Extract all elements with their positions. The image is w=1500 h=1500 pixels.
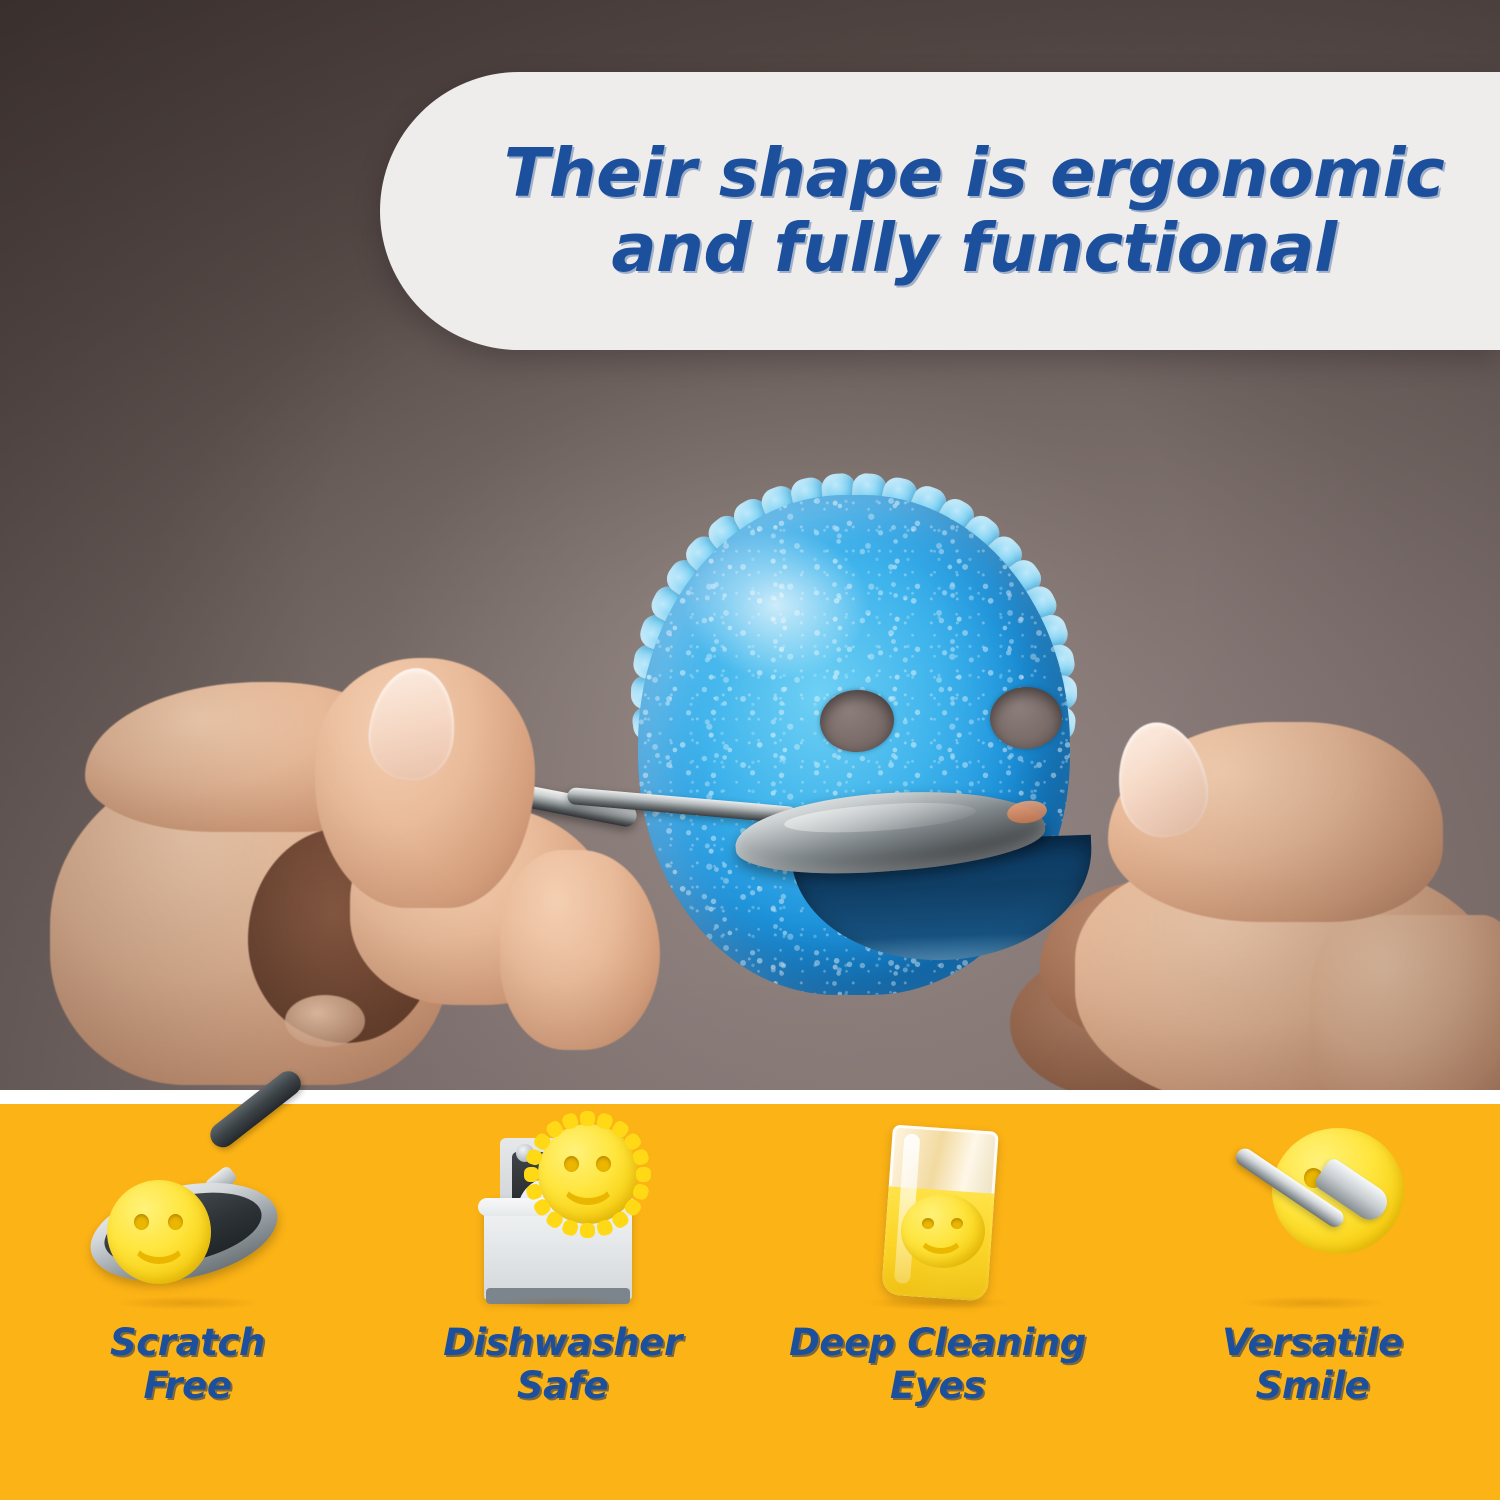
- mini-sponge-tooth: [1357, 1116, 1377, 1136]
- feature-dishwasher-safe: Dishwasher Safe: [375, 1104, 750, 1500]
- mini-sponge-teeth: [531, 1117, 645, 1231]
- mini-sponge-tooth: [1298, 1116, 1318, 1136]
- product-marketing-image: Their shape is ergonomicand fully functi…: [0, 0, 1500, 1500]
- mini-sponge-tooth: [1397, 1161, 1416, 1180]
- mini-sponge-tooth: [1259, 1202, 1278, 1221]
- mini-sponge-tooth: [101, 1187, 122, 1208]
- mini-sponge-tooth: [1388, 1220, 1409, 1241]
- mini-sponge-tooth: [1357, 1247, 1377, 1267]
- mini-sponge-tooth: [1339, 1111, 1356, 1128]
- fork-with-sponge-icon: [1188, 1122, 1438, 1312]
- mini-sponge-tooth: [1319, 1111, 1336, 1128]
- mini-sponge-tooth: [1339, 1254, 1356, 1271]
- mini-sponge-eye-right: [168, 1214, 183, 1230]
- headline-line-1: Their shape is ergonomic: [504, 134, 1445, 212]
- mini-sponge-mouth: [132, 1238, 186, 1264]
- right-hand-wrist: [1310, 915, 1500, 1090]
- mini-sponge-tooth: [131, 1167, 150, 1186]
- mini-sponge-tooth: [636, 1167, 651, 1182]
- mini-sponge-tooth: [580, 1223, 595, 1238]
- section-divider: [0, 1090, 1500, 1104]
- left-hand-knuckle: [285, 995, 365, 1047]
- mini-sponge-tooth: [151, 1283, 166, 1298]
- mini-sponge-eye-left: [564, 1156, 579, 1172]
- mini-sponge-tooth: [631, 1182, 650, 1201]
- mini-sponge-tooth: [1397, 1202, 1416, 1221]
- feature-label-versatile-smile: Versatile Smile: [1222, 1322, 1403, 1408]
- headline-banner: Their shape is ergonomicand fully functi…: [380, 72, 1500, 350]
- headline-line-2: and fully functional: [611, 209, 1336, 287]
- mini-sponge-mouth: [918, 1234, 964, 1254]
- feature-label-dishwasher-safe: Dishwasher Safe: [443, 1322, 682, 1408]
- icon-shadow: [488, 1296, 638, 1310]
- mini-sponge-eye-left: [922, 1218, 934, 1229]
- mini-sponge-tooth: [1388, 1142, 1409, 1163]
- right-hand: [980, 700, 1500, 1090]
- feature-label-scratch-free: Scratch Free: [110, 1322, 265, 1408]
- feature-bar: Scratch Free Dishwasher Safe: [0, 1104, 1500, 1500]
- feature-versatile-smile: Versatile Smile: [1125, 1104, 1500, 1500]
- mini-sponge-tooth: [524, 1167, 539, 1182]
- mini-sponge-tooth: [114, 1175, 135, 1196]
- page-title: Their shape is ergonomicand fully functi…: [504, 136, 1445, 286]
- mini-sponge-eye-right: [951, 1218, 963, 1229]
- frying-pan-with-sponge-icon: [63, 1122, 313, 1312]
- drinking-glass-with-sponge-icon: [813, 1122, 1063, 1312]
- mini-sponge-tooth: [131, 1278, 150, 1297]
- mini-sponge-tooth: [167, 1278, 186, 1297]
- mini-sponge-tooth: [1280, 1126, 1301, 1147]
- icon-shadow: [113, 1296, 263, 1310]
- mini-sponge-eye-left: [134, 1214, 149, 1230]
- feature-deep-cleaning-eyes: Deep Cleaning Eyes: [750, 1104, 1125, 1500]
- feature-label-deep-cleaning-eyes: Deep Cleaning Eyes: [789, 1322, 1086, 1408]
- mini-sponge-icon: [538, 1124, 638, 1224]
- mini-sponge-icon: [107, 1180, 211, 1284]
- mini-sponge-tooth: [1298, 1247, 1318, 1267]
- left-hand-ring-finger: [500, 850, 660, 1050]
- mini-sponge-tooth: [580, 1111, 595, 1126]
- mini-sponge-tooth: [1374, 1126, 1395, 1147]
- feature-scratch-free: Scratch Free: [0, 1104, 375, 1500]
- icon-shadow: [863, 1296, 1013, 1310]
- dishwasher-rack-with-sponge-icon: [438, 1122, 688, 1312]
- left-hand: [30, 640, 650, 1090]
- mini-sponge-tooth: [1280, 1235, 1301, 1256]
- mini-sponge-tooth: [1267, 1142, 1288, 1163]
- mini-sponge-icon: [901, 1194, 985, 1268]
- mini-sponge-tooth: [1267, 1220, 1288, 1241]
- mini-sponge-tooth: [631, 1147, 650, 1166]
- mini-sponge-tooth: [561, 1111, 580, 1130]
- icon-shadow: [1238, 1296, 1388, 1310]
- mini-sponge-tooth: [151, 1167, 166, 1182]
- mini-sponge-tooth: [1319, 1254, 1336, 1271]
- mini-sponge-tooth: [1402, 1184, 1417, 1199]
- mini-sponge-tooth: [1374, 1235, 1395, 1256]
- mini-sponge-eye-right: [596, 1156, 611, 1172]
- mini-sponge-tooth: [167, 1167, 186, 1186]
